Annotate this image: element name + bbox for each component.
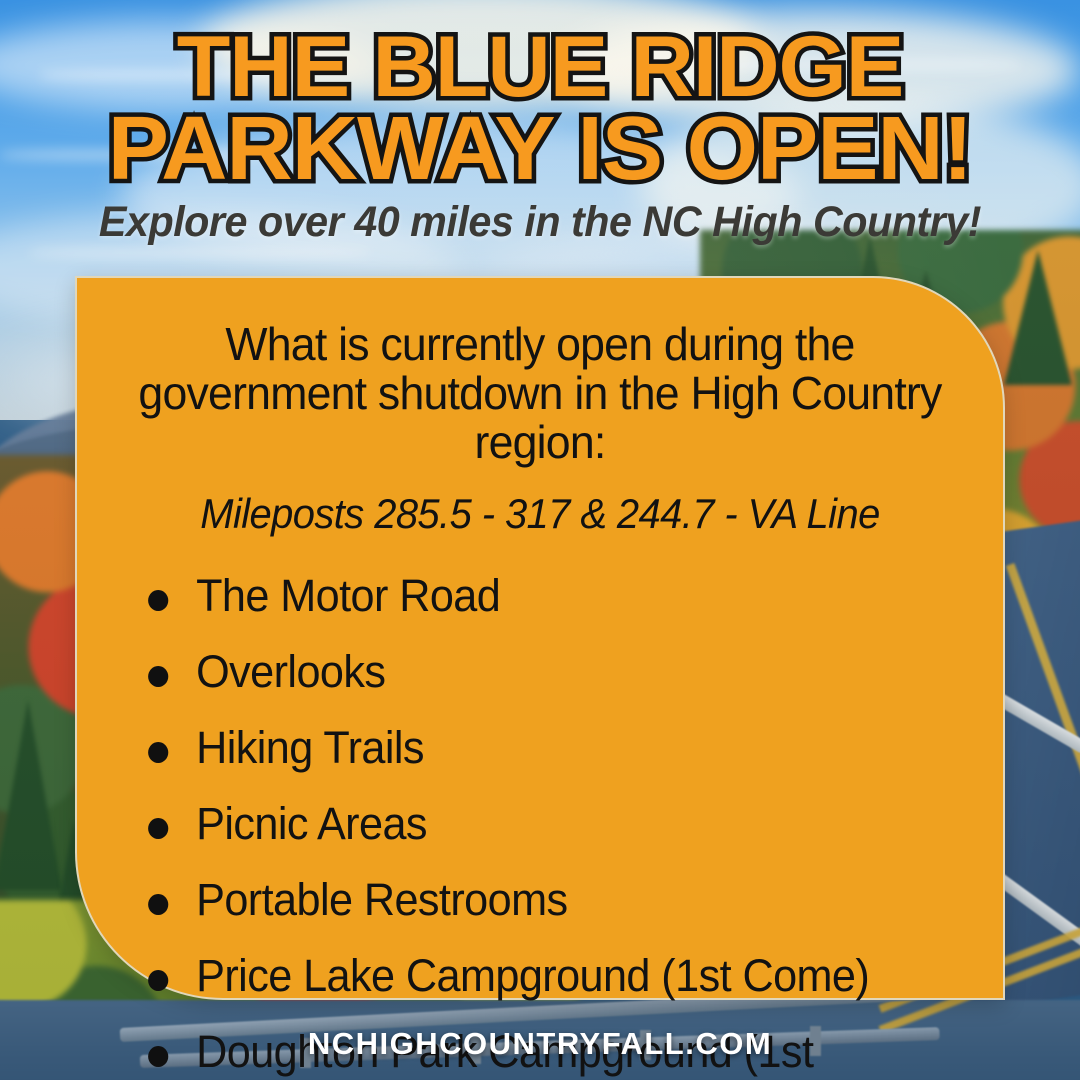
list-item: Picnic Areas bbox=[127, 792, 930, 856]
list-item-label: Hiking Trails bbox=[196, 722, 424, 773]
footer-website: NCHIGHCOUNTRYFALL.COM bbox=[0, 1026, 1080, 1062]
cloud-streak bbox=[30, 248, 370, 258]
card-mileposts: Mileposts 285.5 - 317 & 244.7 - VA Line bbox=[138, 490, 942, 538]
list-item: Portable Restrooms bbox=[127, 868, 930, 932]
headline: THE BLUE RIDGE PARKWAY IS OPEN! bbox=[0, 28, 1080, 192]
list-item-label: Picnic Areas bbox=[196, 798, 427, 849]
bullet-icon bbox=[148, 818, 168, 839]
list-item: Overlooks bbox=[127, 640, 930, 704]
bullet-icon bbox=[148, 666, 168, 687]
card-question: What is currently open during the govern… bbox=[130, 320, 951, 466]
poster-graphic: THE BLUE RIDGE PARKWAY IS OPEN! Explore … bbox=[0, 0, 1080, 1080]
info-card: What is currently open during the govern… bbox=[75, 276, 1005, 1000]
list-item-label: The Motor Road bbox=[196, 570, 500, 621]
bullet-icon bbox=[148, 894, 168, 915]
conifer-tree bbox=[1004, 250, 1072, 385]
bullet-icon bbox=[148, 590, 168, 611]
list-item-label: Overlooks bbox=[196, 646, 385, 697]
bullet-icon bbox=[148, 742, 168, 763]
headline-line-2: PARKWAY IS OPEN! bbox=[0, 108, 1080, 192]
list-item-label: Price Lake Campground (1st Come) bbox=[196, 950, 869, 1001]
open-items-list: The Motor Road Overlooks Hiking Trails P… bbox=[127, 564, 963, 1080]
list-item: The Motor Road bbox=[127, 564, 930, 628]
list-item-label: Portable Restrooms bbox=[196, 874, 567, 925]
bullet-icon bbox=[148, 970, 168, 991]
list-item: Hiking Trails bbox=[127, 716, 930, 780]
subheadline: Explore over 40 miles in the NC High Cou… bbox=[22, 198, 1059, 247]
list-item: Price Lake Campground (1st Come) bbox=[127, 944, 930, 1008]
